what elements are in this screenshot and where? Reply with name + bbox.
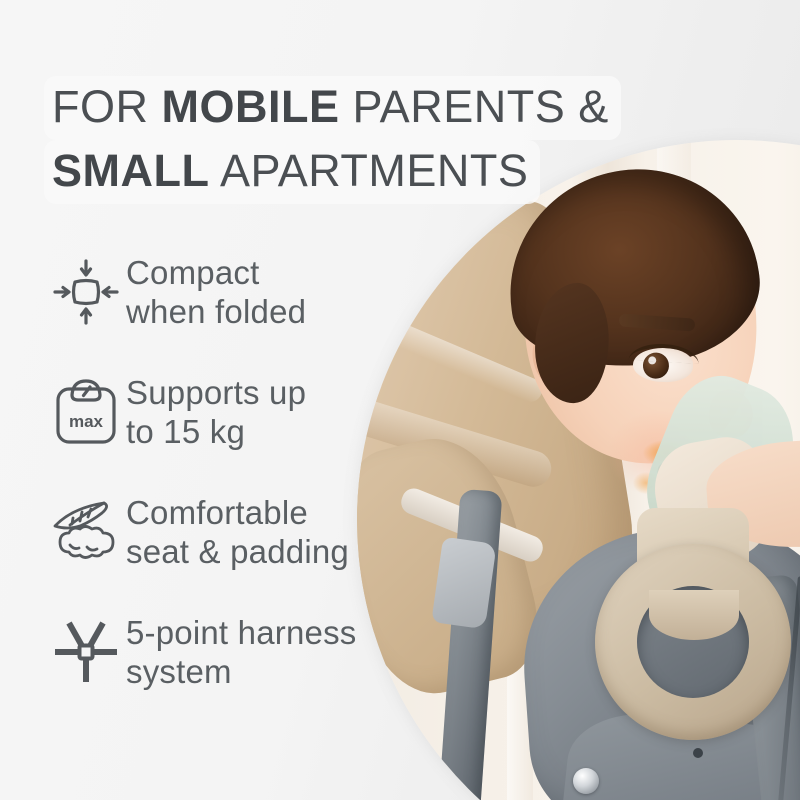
feature-item-weight: max Supports up to 15 kg [46, 352, 396, 472]
feature-label-weight: Supports up to 15 kg [126, 373, 306, 451]
feature-item-compact: Compact when folded [46, 232, 396, 352]
product-photo-circle [357, 140, 800, 800]
frame-pin-hole [693, 748, 703, 758]
compress-arrows-square-icon [46, 257, 126, 327]
five-point-harness-icon [46, 618, 126, 686]
feather-cloud-icon [46, 500, 126, 564]
feature-label-harness: 5-point harness system [126, 613, 356, 691]
feature-item-harness: 5-point harness system [46, 592, 396, 712]
page-headline: FOR MOBILE PARENTS & SMALL APARTMENTS [52, 76, 672, 204]
recline-adjust-knob [595, 544, 791, 740]
weight-scale-max-icon: max [46, 378, 126, 446]
headline-line-2: SMALL APARTMENTS [52, 140, 672, 204]
feature-item-comfort: Comfortable seat & padding [46, 472, 396, 592]
infographic-canvas: FOR MOBILE PARENTS & SMALL APARTMENTS [0, 0, 800, 800]
knob-lip [649, 590, 739, 640]
frame-rivet [573, 768, 599, 794]
headline-bold-small: SMALL [52, 145, 209, 196]
headline-bold-mobile: MOBILE [162, 81, 340, 132]
feature-label-comfort: Comfortable seat & padding [126, 493, 349, 571]
headline-suffix: PARENTS & [340, 81, 609, 132]
feature-list: Compact when folded max Supports up to 1… [46, 232, 396, 712]
headline-suffix-2: APARTMENTS [209, 145, 528, 196]
product-photo [357, 140, 800, 800]
headline-prefix: FOR [52, 81, 162, 132]
scale-max-label: max [69, 412, 104, 431]
headline-line-1: FOR MOBILE PARENTS & [52, 76, 672, 140]
feature-label-compact: Compact when folded [126, 253, 306, 331]
